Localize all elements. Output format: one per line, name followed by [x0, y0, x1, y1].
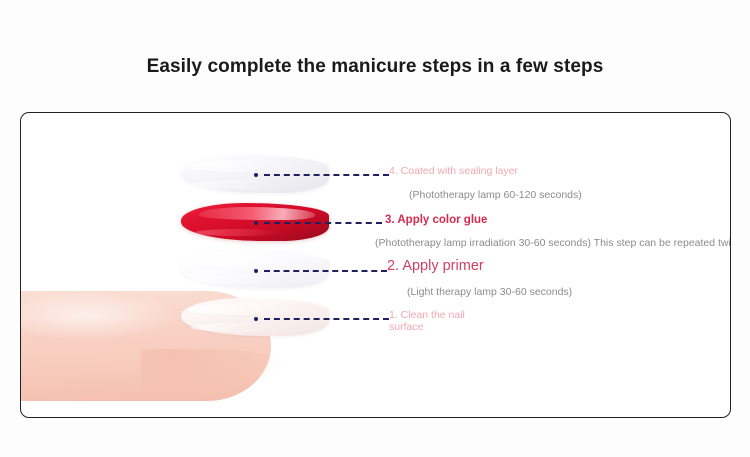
illustration-stage: 4. Coated with sealing layer (Photothera…: [21, 113, 730, 417]
step-label-4: 4. Coated with sealing layer: [389, 165, 518, 178]
finger-shading: [141, 349, 291, 397]
step-title-3: 3. Apply color glue: [385, 213, 487, 227]
manicure-steps-card: 4. Coated with sealing layer (Photothera…: [20, 112, 731, 418]
nail-body: [181, 298, 329, 336]
step-subtitle-3: (Phototherapy lamp irradiation 30-60 sec…: [375, 237, 731, 251]
step-subtitle-4: (Phototherapy lamp 60-120 seconds): [409, 189, 582, 203]
nail-layer-primer: [181, 250, 329, 288]
step-title-2: 2. Apply primer: [387, 257, 484, 275]
nail-layer-sealing: [181, 155, 329, 193]
step-title-1: 1. Clean the nail surface: [389, 309, 475, 334]
step-subtitle-2: (Light therapy lamp 30-60 seconds): [407, 286, 572, 300]
nail-layer-color-glue: [181, 203, 329, 241]
page-title: Easily complete the manicure steps in a …: [0, 56, 750, 78]
nail-body: [181, 203, 329, 241]
step-title-4: 4. Coated with sealing layer: [389, 165, 518, 178]
nail-body: [181, 155, 329, 193]
nail-body: [181, 250, 329, 288]
step-label-1: 1. Clean the nail surface: [389, 309, 475, 334]
nail-layer-clean-nail: [181, 298, 329, 336]
step-label-2: 2. Apply primer: [387, 257, 484, 275]
step-label-3: 3. Apply color glue: [385, 213, 487, 227]
